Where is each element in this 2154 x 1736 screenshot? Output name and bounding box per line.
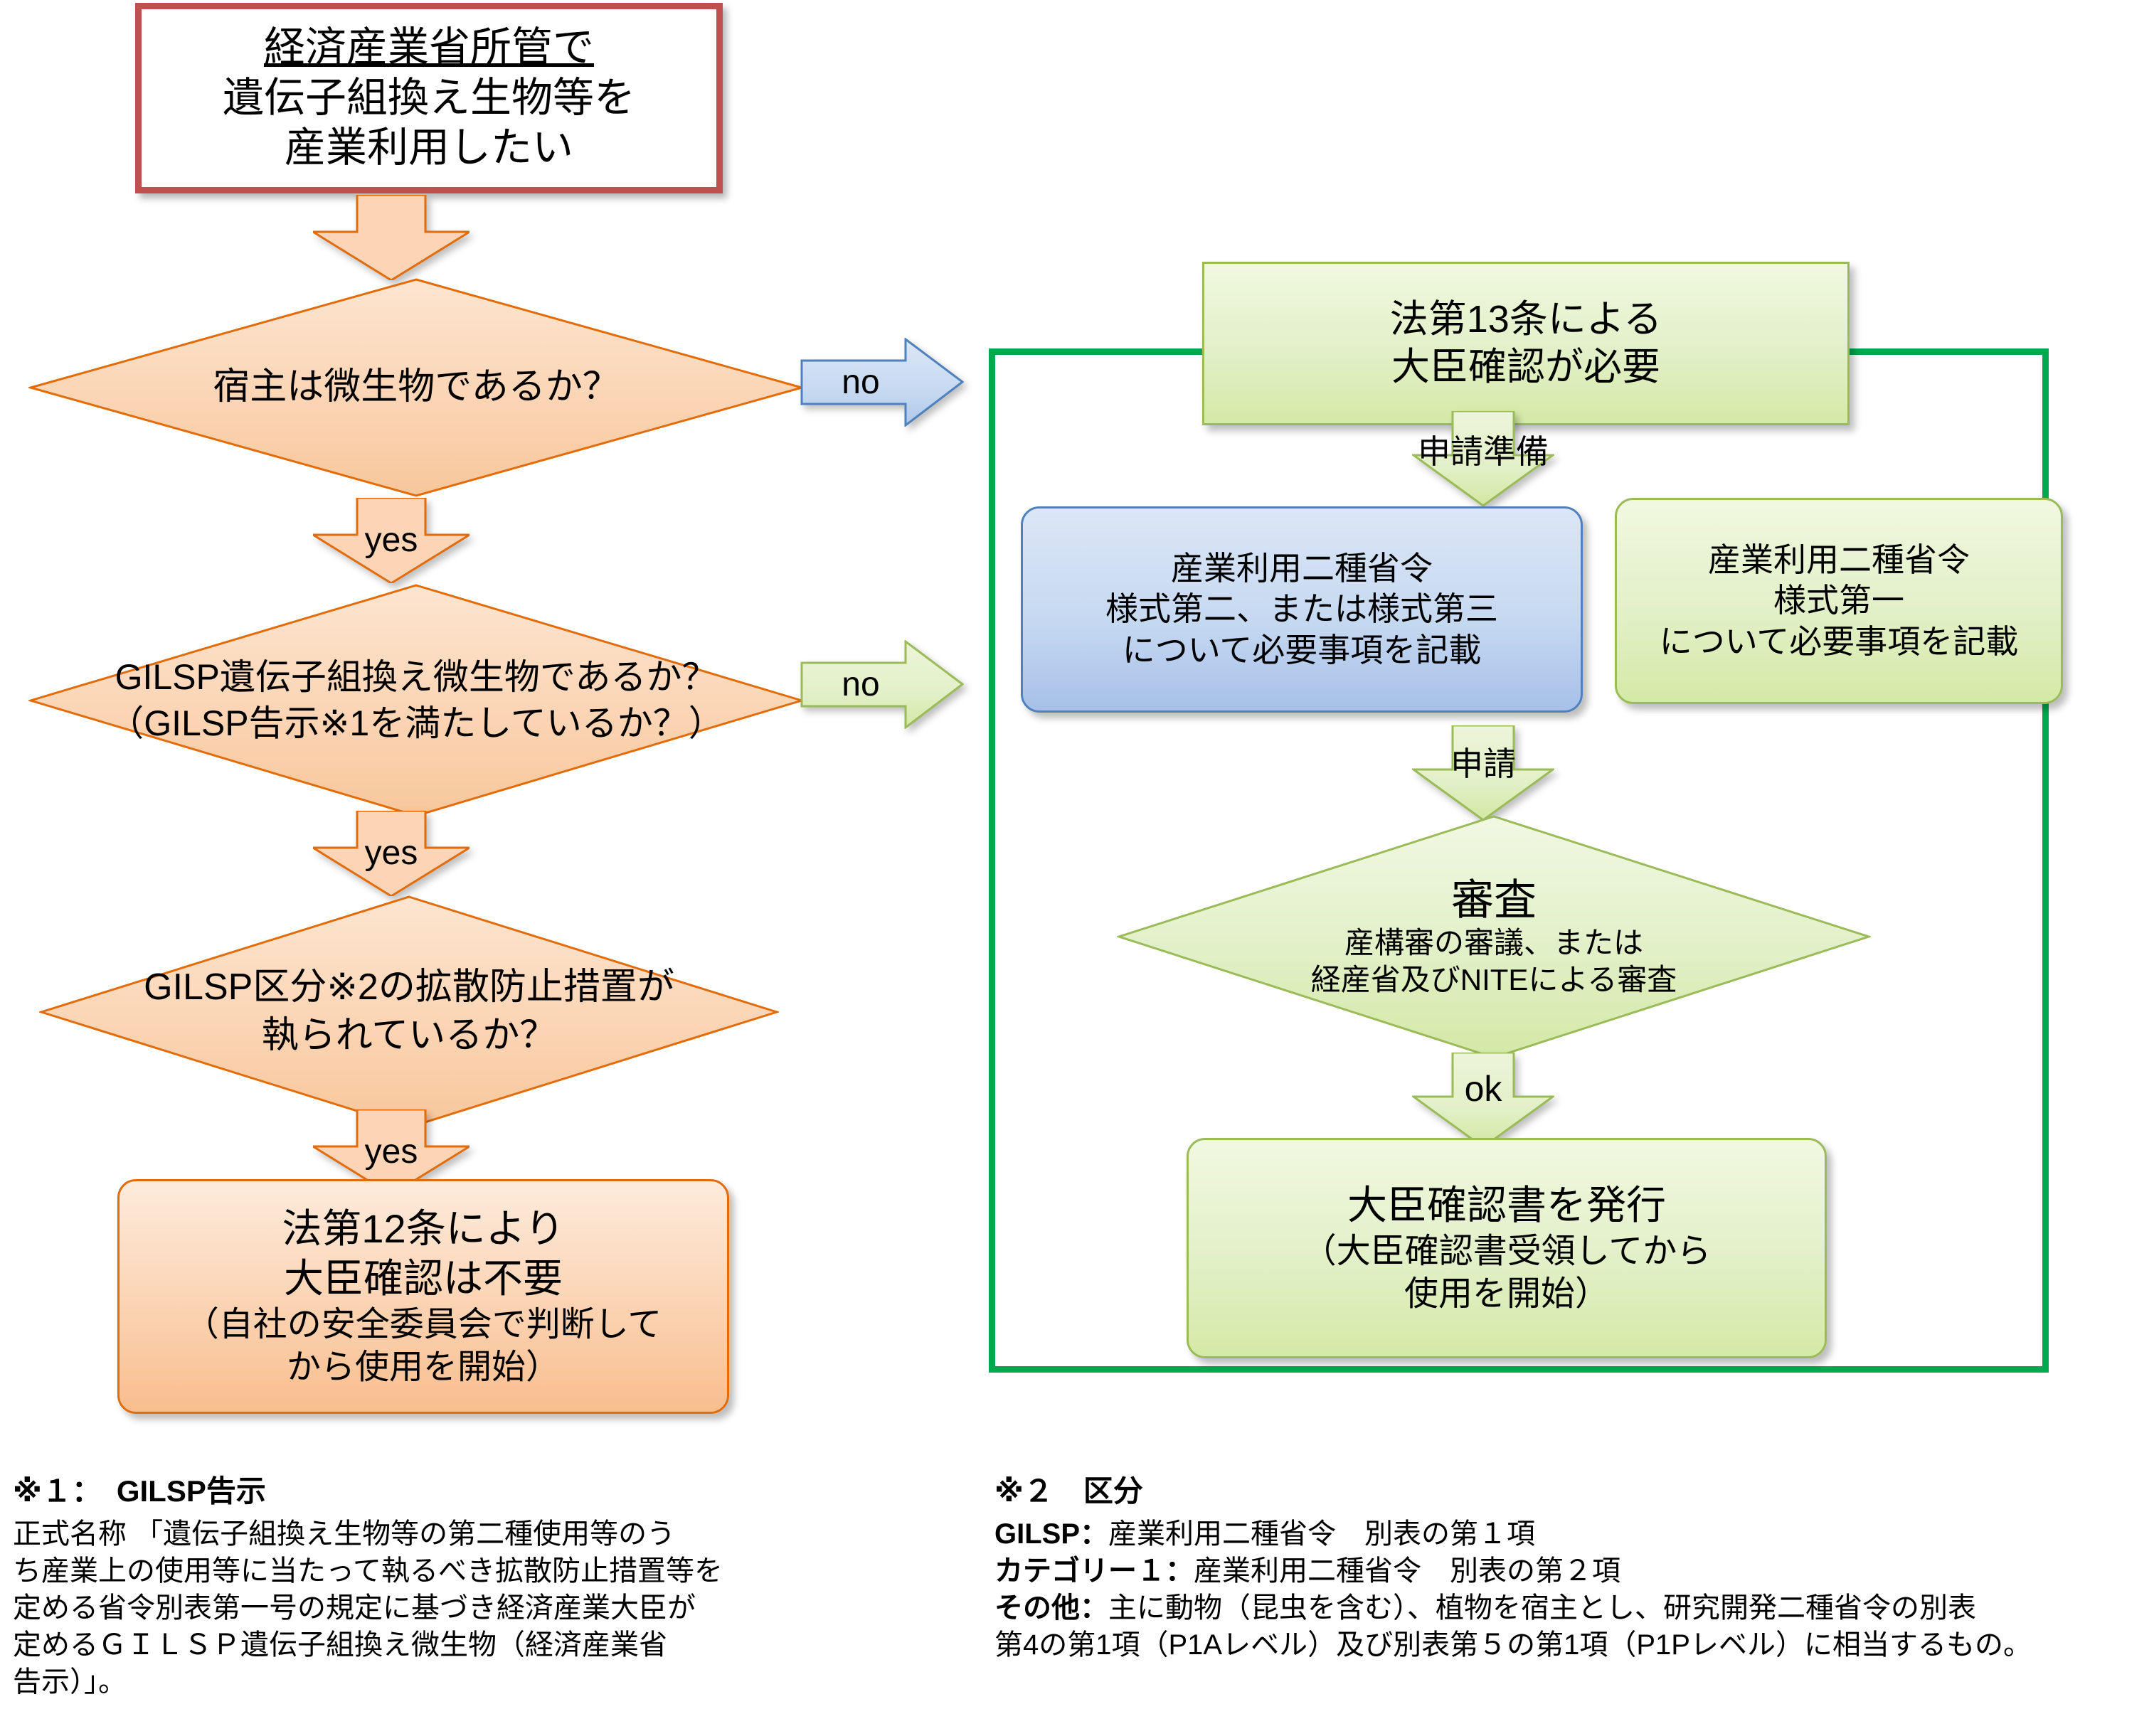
footnote-2-row4: 第4の第1項（P1Aレベル）及び別表第５の第1項（P1Pレベル）に相当するもの。	[994, 1626, 2147, 1663]
review-title: 審査	[1162, 875, 1826, 925]
start-box: 経済産業省所管で 遺伝子組換え生物等を 産業利用したい	[135, 3, 723, 193]
start-line2: 遺伝子組換え生物等を	[223, 73, 635, 124]
footnote-2-row2-text: 産業利用二種省令 別表の第２項	[1194, 1555, 1620, 1587]
arrow-no-1: no	[800, 338, 964, 427]
footnote-2-heading: ※２ 区分	[994, 1472, 2147, 1511]
form-box-blue: 産業利用二種省令 様式第二、または様式第三 について必要事項を記載	[1021, 506, 1583, 713]
arrow-application: 申請	[1412, 725, 1554, 821]
arrow-yes-1: yes	[313, 498, 469, 583]
decision3-line2: 執られているか？	[83, 1012, 734, 1060]
form-box-green: 産業利用二種省令 様式第一 について必要事項を記載	[1615, 498, 2063, 704]
form-green-line2: 様式第一	[1660, 580, 2019, 622]
result-line4: から使用を開始）	[185, 1346, 662, 1389]
issue-line1: 大臣確認書を発行	[1303, 1181, 1712, 1230]
footnote-2-row2-label: カテゴリー１：	[994, 1555, 1194, 1587]
decision3-line1: GILSP区分※2の拡散防止措置が	[83, 964, 734, 1012]
header-line1: 法第13条による	[1390, 296, 1662, 344]
decision2-line2: （GILSP告示※1を満たしているか？）	[75, 701, 757, 747]
flowchart-canvas: 経済産業省所管で 遺伝子組換え生物等を 産業利用したい 宿主は微生物であるか？	[0, 0, 2154, 1736]
footnote-1-l1: 正式名称 「遺伝子組換え生物等の第二種使用等のう	[13, 1516, 923, 1553]
result-line1: 法第12条により	[185, 1204, 662, 1254]
form-blue-line1: 産業利用二種省令	[1105, 548, 1498, 590]
footnote-2-row1: GILSP：産業利用二種省令 別表の第１項	[994, 1516, 2147, 1553]
footnote-2-row3: その他：主に動物（昆虫を含む）、植物を宿主とし、研究開発二種省令の別表	[994, 1589, 2147, 1626]
review-line1: 産構審の審議、または	[1162, 925, 1826, 962]
footnote-1: ※１： GILSP告示 正式名称 「遺伝子組換え生物等の第二種使用等のう ち産業…	[13, 1472, 923, 1700]
header-line2: 大臣確認が必要	[1390, 344, 1662, 392]
decision-host-microorganism: 宿主は微生物であるか？	[28, 277, 804, 498]
start-line1: 経済産業省所管で	[223, 23, 635, 73]
footnote-1-l3: 定める省令別表第一号の規定に基づき経済産業大臣が	[13, 1589, 923, 1626]
decision-containment-measures: GILSP区分※2の拡散防止措置が 執られているか？	[39, 895, 779, 1129]
form-green-line3: について必要事項を記載	[1660, 622, 2019, 663]
footnote-1-l5: 告示）」。	[13, 1663, 923, 1700]
decision-gilsp-microorganism: GILSP遺伝子組換え微生物であるか？ （GILSP告示※1を満たしているか？）	[28, 583, 804, 818]
issue-line3: 使用を開始）	[1303, 1273, 1712, 1316]
footnote-2-row1-text: 産業利用二種省令 別表の第１項	[1108, 1518, 1535, 1550]
form-blue-line2: 様式第二、または様式第三	[1105, 589, 1498, 630]
decision1-line1: 宿主は微生物であるか？	[75, 363, 757, 412]
review-line2: 経産省及びNITEによる審査	[1162, 962, 1826, 999]
arrow-start-to-decision1	[313, 195, 469, 280]
start-line3: 産業利用したい	[223, 123, 635, 174]
arrow-application-preparation: 申請準備	[1412, 411, 1554, 507]
footnote-1-l2: ち産業上の使用等に当たって執るべき拡散防止措置等を	[13, 1553, 923, 1589]
footnote-2-row3-text: 主に動物（昆虫を含む）、植物を宿主とし、研究開発二種省令の別表	[1108, 1592, 1976, 1624]
footnote-2: ※２ 区分 GILSP：産業利用二種省令 別表の第１項 カテゴリー１：産業利用二…	[994, 1472, 2147, 1663]
decision2-line1: GILSP遺伝子組換え微生物であるか？	[75, 654, 757, 701]
header-ministerial-confirmation-required: 法第13条による 大臣確認が必要	[1202, 262, 1850, 425]
footnote-2-row3-label: その他：	[994, 1592, 1108, 1624]
form-green-line1: 産業利用二種省令	[1660, 540, 2019, 581]
issue-line2: （大臣確認書受領してから	[1303, 1230, 1712, 1273]
footnote-2-row2: カテゴリー１：産業利用二種省令 別表の第２項	[994, 1553, 2147, 1589]
footnote-1-l4: 定めるＧＩＬＳＰ遺伝子組換え微生物（経済産業省	[13, 1626, 923, 1663]
arrow-ok: ok	[1412, 1053, 1554, 1149]
decision-review: 審査 産構審の審議、または 経産省及びNITEによる審査	[1117, 814, 1871, 1060]
footnote-2-row1-label: GILSP：	[994, 1518, 1108, 1550]
issue-confirmation-certificate: 大臣確認書を発行 （大臣確認書受領してから 使用を開始）	[1187, 1138, 1827, 1358]
result-no-ministerial-confirmation: 法第12条により 大臣確認は不要 （自社の安全委員会で判断して から使用を開始）	[117, 1179, 729, 1414]
arrow-yes-2: yes	[313, 811, 469, 896]
result-line2: 大臣確認は不要	[185, 1254, 662, 1304]
footnote-1-heading: ※１： GILSP告示	[13, 1472, 923, 1511]
form-blue-line3: について必要事項を記載	[1105, 630, 1498, 671]
arrow-no-2: no	[800, 640, 964, 729]
result-line3: （自社の安全委員会で判断して	[185, 1304, 662, 1346]
